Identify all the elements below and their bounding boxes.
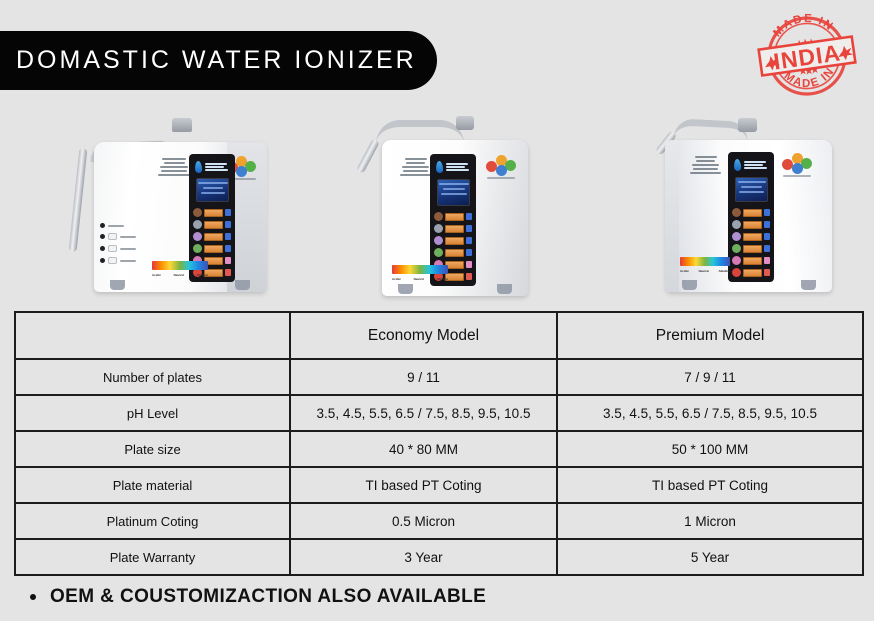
row-value-economy: 3 Year <box>290 539 557 575</box>
mode-button[interactable] <box>434 248 472 257</box>
row-label-number-of-plates: Number of plates <box>15 359 290 395</box>
ph-scale-labels: Acidic Neutral Alkaline <box>152 273 208 277</box>
table-row: Number of plates 9 / 11 7 / 9 / 11 <box>15 359 863 395</box>
ph-label-alkaline: Alkaline <box>436 277 448 281</box>
brand-logo <box>734 157 770 173</box>
product-image-front: Acidic Neutral Alkaline <box>368 116 536 302</box>
feature-text-block <box>158 158 190 176</box>
row-value-premium: 1 Micron <box>557 503 863 539</box>
footer-bullet-text: OEM & COUSTOMIZACTION ALSO AVAILABLE <box>50 586 486 608</box>
power-button[interactable] <box>732 268 770 277</box>
svg-text:MADE IN: MADE IN <box>770 9 837 40</box>
port-row <box>100 257 136 264</box>
mode-button[interactable] <box>732 220 770 229</box>
ph-label-acidic: Acidic <box>392 277 401 281</box>
feature-text-block <box>400 158 431 176</box>
ionizer-body: Acidic Neutral Alkaline <box>382 140 528 296</box>
spout-cap-icon <box>172 118 192 132</box>
row-value-premium: 5 Year <box>557 539 863 575</box>
brand-logo <box>436 159 472 175</box>
row-value-economy: TI based PT Coting <box>290 467 557 503</box>
port-row <box>100 245 136 252</box>
ionizer-foot <box>110 280 125 290</box>
page-title: DOMASTIC WATER IONIZER <box>0 46 417 75</box>
header-cell-premium: Premium Model <box>557 312 863 359</box>
mode-button[interactable] <box>732 232 770 241</box>
row-value-economy: 9 / 11 <box>290 359 557 395</box>
row-value-premium: TI based PT Coting <box>557 467 863 503</box>
flame-icon <box>734 159 742 171</box>
product-spec-poster: DOMASTIC WATER IONIZER MADE IN MADE IN <box>0 0 874 621</box>
ph-label-acidic: Acidic <box>680 269 689 273</box>
flame-icon <box>195 161 203 173</box>
ph-scale-strip <box>680 257 730 266</box>
mode-button[interactable] <box>732 208 770 217</box>
table-row: Plate Warranty 3 Year 5 Year <box>15 539 863 575</box>
table-row: Platinum Coting 0.5 Micron 1 Micron <box>15 503 863 539</box>
specification-table: Economy Model Premium Model Number of pl… <box>14 311 864 576</box>
side-ports <box>100 223 136 264</box>
ph-scale-labels: Acidic Neutral Alkaline <box>392 277 448 281</box>
table-row: pH Level 3.5, 4.5, 5.5, 6.5 / 7.5, 8.5, … <box>15 395 863 431</box>
mode-button[interactable] <box>732 244 770 253</box>
lcd-display <box>735 177 768 202</box>
lcd-display <box>437 179 470 206</box>
ph-scale-strip <box>392 265 448 274</box>
ionizer-foot <box>682 280 697 290</box>
flame-icon <box>436 161 444 173</box>
ionizer-foot <box>497 284 512 294</box>
ph-label-neutral: Neutral <box>699 269 709 273</box>
header-cell-economy: Economy Model <box>290 312 557 359</box>
row-label-plate-size: Plate size <box>15 431 290 467</box>
made-in-india-stamp: MADE IN MADE IN IND <box>757 6 857 106</box>
ionizer-body: Acidic Neutral Alkaline <box>94 142 266 292</box>
ph-label-alkaline: Alkaline <box>718 269 730 273</box>
port-row <box>100 223 136 228</box>
table-row: Plate size 40 * 80 MM 50 * 100 MM <box>15 431 863 467</box>
header-cell-blank <box>15 312 290 359</box>
certification-badges <box>486 155 516 179</box>
mode-button[interactable] <box>434 212 472 221</box>
ionizer-foot <box>235 280 250 290</box>
lcd-display <box>196 178 229 202</box>
port-row <box>100 233 136 240</box>
ionizer-body: Acidic Neutral Alkaline <box>666 140 832 292</box>
row-label-plate-material: Plate material <box>15 467 290 503</box>
row-value-economy: 0.5 Micron <box>290 503 557 539</box>
flexible-spout-icon <box>69 148 88 252</box>
mode-button[interactable] <box>193 244 231 253</box>
spout-cap-icon <box>456 116 474 130</box>
mode-button[interactable] <box>434 224 472 233</box>
row-label-plate-warranty: Plate Warranty <box>15 539 290 575</box>
ionizer-foot <box>398 284 413 294</box>
table-row: Plate material TI based PT Coting TI bas… <box>15 467 863 503</box>
control-panel[interactable] <box>728 152 774 282</box>
ph-label-alkaline: Alkaline <box>196 273 208 277</box>
ph-label-neutral: Neutral <box>414 277 424 281</box>
row-value-economy: 40 * 80 MM <box>290 431 557 467</box>
row-value-premium: 7 / 9 / 11 <box>557 359 863 395</box>
feature-text-block <box>690 156 721 174</box>
row-label-ph-level: pH Level <box>15 395 290 431</box>
mode-button[interactable] <box>732 256 770 265</box>
row-label-platinum-coting: Platinum Coting <box>15 503 290 539</box>
title-banner: DOMASTIC WATER IONIZER <box>0 31 437 90</box>
row-value-premium: 50 * 100 MM <box>557 431 863 467</box>
bullet-icon <box>30 594 36 600</box>
table-header-row: Economy Model Premium Model <box>15 312 863 359</box>
row-value-premium: 3.5, 4.5, 5.5, 6.5 / 7.5, 8.5, 9.5, 10.5 <box>557 395 863 431</box>
mode-button[interactable] <box>193 220 231 229</box>
stamp-arc-top: MADE IN <box>770 9 837 40</box>
footer-note: OEM & COUSTOMIZACTION ALSO AVAILABLE <box>30 586 486 608</box>
ph-scale-labels: Acidic Neutral Alkaline <box>680 269 730 273</box>
mode-button[interactable] <box>193 232 231 241</box>
ionizer-left-side <box>665 140 679 292</box>
ph-label-acidic: Acidic <box>152 273 161 277</box>
spout-cap-icon <box>738 118 757 132</box>
ionizer-foot <box>801 280 816 290</box>
row-value-economy: 3.5, 4.5, 5.5, 6.5 / 7.5, 8.5, 9.5, 10.5 <box>290 395 557 431</box>
brand-logo <box>195 159 231 175</box>
product-image-economy-angled: Acidic Neutral Alkaline <box>66 120 266 302</box>
mode-button[interactable] <box>434 236 472 245</box>
certification-badges <box>782 153 812 177</box>
product-image-row: Acidic Neutral Alkaline <box>0 112 874 304</box>
ph-scale-strip <box>152 261 208 270</box>
ph-label-neutral: Neutral <box>174 273 184 277</box>
product-image-premium-angled: Acidic Neutral Alkaline <box>660 118 838 302</box>
mode-button[interactable] <box>193 208 231 217</box>
